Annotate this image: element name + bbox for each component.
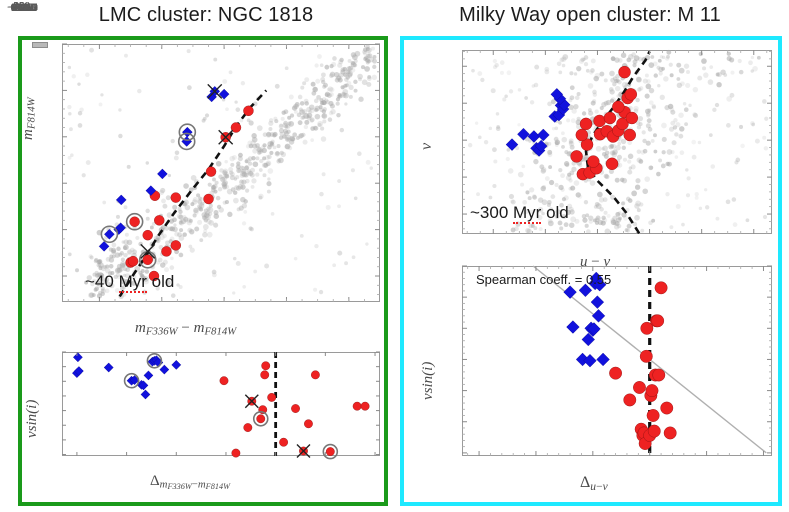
scientific-figure: LMC cluster: NGC 1818 Milky Way open clu… <box>0 0 789 512</box>
note-a-spell: Myr <box>119 272 147 293</box>
panel-a-xlabel: mF336W − mF814W <box>135 320 236 338</box>
panel-ngc1818-cmd <box>62 44 380 302</box>
panel-m11-vsini <box>462 266 772 456</box>
note-c-pre: ~300 <box>470 203 513 222</box>
panel-d-spearman-annotation: Spearman coeff. = 0.55 <box>476 272 611 287</box>
panel-b-ylabel: vsin(i) <box>24 400 41 438</box>
note-c-post: old <box>541 203 568 222</box>
panel-b-xlabel: ΔmF336W−mF814W <box>150 473 230 491</box>
panel-ngc1818-vsini <box>62 352 380 456</box>
note-c-spell: Myr <box>513 203 541 224</box>
note-a-pre: ~40 <box>85 272 119 291</box>
panel-a-canvas <box>62 44 380 302</box>
panel-a-ylabel: mF814W <box>20 97 38 140</box>
left-group-title: LMC cluster: NGC 1818 <box>18 4 394 27</box>
tick-label: 300 <box>0 0 30 15</box>
panel-d-ylabel: vsin(i) <box>420 362 437 400</box>
left-group-tab <box>32 42 48 48</box>
right-group-title: Milky Way open cluster: M 11 <box>398 4 782 27</box>
panel-d-canvas <box>462 266 772 456</box>
panel-c-age-note: ~300 Myr old <box>470 203 569 223</box>
note-a-post: old <box>147 272 174 291</box>
panel-a-age-note: ~40 Myr old <box>85 272 174 292</box>
panel-d-xlabel: Δu−v <box>580 474 608 493</box>
panel-c-ylabel: v <box>418 143 436 150</box>
panel-b-canvas <box>62 352 380 456</box>
